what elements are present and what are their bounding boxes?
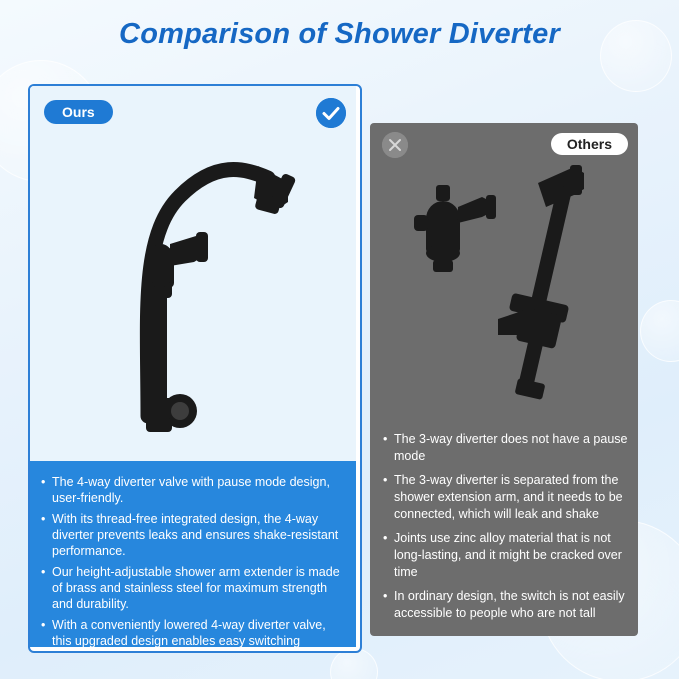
ours-product-image [30,86,356,461]
list-item: The 3-way diverter is separated from the… [394,472,630,523]
others-bullet-list: The 3-way diverter does not have a pause… [382,431,630,629]
bubble-decoration [640,300,679,362]
others-panel: Others The 3-way diverter does not have … [370,123,638,636]
list-item: With its thread-free integrated design, … [52,511,342,559]
list-item: In ordinary design, the switch is not ea… [394,588,630,622]
list-item: Our height-adjustable shower arm extende… [52,564,342,612]
page-title: Comparison of Shower Diverter [0,18,679,51]
list-item: Joints use zinc alloy material that is n… [394,530,630,581]
comparison-infographic: Comparison of Shower Diverter [0,0,679,679]
close-icon [382,132,408,158]
list-item: The 4-way diverter valve with pause mode… [52,474,342,506]
list-item: With a conveniently lowered 4-way divert… [52,617,342,653]
list-item: The 3-way diverter does not have a pause… [394,431,630,465]
ours-bullet-list: The 4-way diverter valve with pause mode… [30,461,356,647]
ours-panel: Ours The 4-way diverter valve with pause… [28,84,362,653]
ours-tag: Ours [44,100,113,124]
others-tag: Others [551,133,628,155]
others-product-image [370,123,638,423]
check-icon [316,98,346,128]
